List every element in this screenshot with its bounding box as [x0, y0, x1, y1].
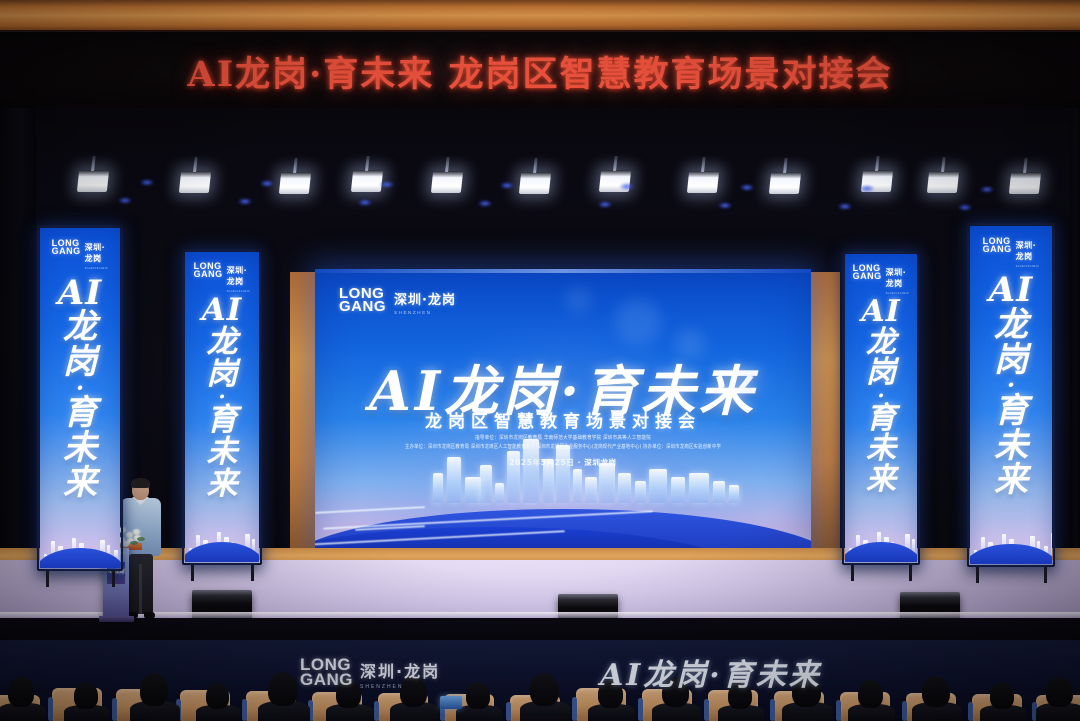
stage-light — [351, 170, 383, 192]
banner-logo-chinese: 深圳·龙岗 — [85, 242, 109, 264]
ceiling-accent-light — [718, 202, 732, 209]
light-mount-arm — [1023, 158, 1028, 173]
light-mount-arm — [365, 156, 370, 171]
banner-skyline — [970, 496, 1052, 564]
audience-head — [466, 682, 490, 709]
banner-vertical-title: AI龙岗·育未来 — [185, 295, 259, 500]
skyline-tower — [713, 481, 725, 503]
banner-title-char: 未 — [63, 431, 97, 466]
side-curtain-right — [1070, 108, 1080, 578]
stage-light — [769, 172, 801, 194]
stage-light — [519, 172, 551, 194]
screen-brand-logo: LONG GANG 深圳·龙岗 SHENZHEN — [339, 287, 456, 315]
banner-title-char: 来 — [207, 469, 238, 501]
audience-area — [0, 640, 1080, 721]
audience-head — [922, 676, 950, 707]
ceiling-accent-light — [500, 182, 514, 189]
podium-base — [99, 616, 134, 622]
banner-logo-chinese-wrap: 深圳·龙岗SHENZHEN — [227, 263, 251, 293]
banner-logo-gang: GANG — [983, 246, 1012, 254]
banner-title-char: 龙 — [207, 327, 238, 359]
light-mount-arm — [293, 158, 298, 173]
skyline-tower — [447, 457, 461, 503]
stage-light — [927, 171, 959, 193]
ceiling-accent-light — [380, 181, 394, 188]
logo-chinese-wrap: 深圳·龙岗 SHENZHEN — [394, 287, 456, 315]
foliage-leaf — [130, 541, 138, 545]
apron-logo-gang: GANG — [300, 673, 353, 688]
screen-skyline-graphic — [315, 433, 811, 503]
banner-logo-gang: GANG — [52, 248, 81, 256]
light-mount-arm — [445, 157, 450, 172]
stage-light — [1009, 172, 1041, 194]
banner-skyline-tower — [1051, 533, 1052, 556]
light-mount-arm — [613, 156, 618, 171]
banner-title-char: 龙 — [63, 310, 97, 345]
banner-title-char: 未 — [207, 437, 238, 469]
ceiling-accent-light — [958, 204, 972, 211]
speaker-shoe-right — [144, 612, 155, 618]
ceiling-accent-light — [260, 180, 274, 187]
ceiling-accent-light — [860, 185, 874, 192]
banner-title-char: 来 — [994, 463, 1028, 498]
banner-stand-leg — [112, 571, 115, 587]
skyline-tower — [599, 463, 615, 503]
banner-stand-leg — [1044, 567, 1047, 583]
skyline-tower — [543, 459, 554, 503]
banner-title-char: AI — [58, 276, 102, 311]
screen-bokeh-blob — [735, 364, 769, 398]
skyline-tower — [729, 485, 739, 503]
ceiling-accent-light — [620, 183, 634, 190]
logo-latin-stack: LONG GANG — [339, 287, 386, 313]
skyline-tower — [573, 469, 582, 503]
banner-logo-gang: GANG — [853, 273, 882, 281]
banner-brand-logo: LONGGANG深圳·龙岗SHENZHEN — [983, 238, 1040, 268]
banner-title-char: 育 — [63, 396, 97, 431]
banner-logo-latin: LONGGANG — [52, 240, 81, 256]
stage-light — [687, 171, 719, 193]
banner-title-char: 未 — [866, 434, 896, 465]
wall-panel-right — [806, 272, 840, 562]
apron-brand-logo: LONG GANG 深圳·龙岗 SHENZHEN — [300, 656, 440, 690]
banner-logo-chinese-wrap: 深圳·龙岗SHENZHEN — [886, 265, 910, 295]
audience-head — [1046, 677, 1073, 707]
wave-highlight-stripe — [315, 506, 425, 514]
skyline-tower — [507, 451, 520, 503]
banner-skyline — [845, 500, 917, 562]
screen-bokeh-blob — [675, 329, 705, 359]
skyline-tower — [556, 445, 570, 503]
banner-logo-chinese: 深圳·龙岗 — [227, 265, 251, 287]
audience-head — [990, 682, 1014, 709]
foliage-leaf — [137, 537, 145, 541]
banner-skyline — [40, 500, 120, 568]
banner-brand-logo: LONGGANG深圳·龙岗SHENZHEN — [853, 265, 910, 295]
audience-head — [206, 683, 229, 709]
audience-head — [140, 673, 168, 706]
banner-title-char: 来 — [63, 466, 97, 501]
banner-title-char: 来 — [866, 465, 896, 496]
screen-bokeh-blob — [565, 287, 591, 313]
banner-vertical-title: AI龙岗·育未来 — [845, 297, 917, 495]
podium-sign-line1: AI龙岗 — [108, 570, 124, 576]
skyline-tower — [465, 477, 481, 503]
skyline-tower — [635, 481, 646, 503]
speaker-legs — [129, 554, 153, 614]
skyline-tower — [495, 483, 504, 503]
apron-logo-pinyin: SHENZHEN — [360, 684, 440, 690]
audience-head — [858, 680, 883, 708]
light-mount-arm — [783, 158, 788, 173]
banner-title-char: AI — [989, 273, 1033, 308]
audience-head — [8, 677, 34, 707]
skyline-tower — [649, 469, 667, 503]
banner-skyline — [185, 500, 259, 562]
screen-subtitle: 龙岗区智慧教育场景对接会 — [315, 407, 811, 432]
banner-logo-chinese-wrap: 深圳·龙岗SHENZHEN — [1016, 238, 1040, 268]
banner-brand-logo: LONGGANG深圳·龙岗SHENZHEN — [52, 240, 109, 270]
audience-head — [268, 672, 298, 706]
skyline-tower — [480, 465, 492, 503]
conference-stage-photo: AI龙岗·育未来 龙岗区智慧教育场景对接会 LONG GANG 深圳·龙岗 SH… — [0, 0, 1080, 721]
ceiling-accent-light — [238, 198, 252, 205]
flower — [122, 541, 129, 547]
ceiling-accent-light — [838, 203, 852, 210]
ceiling-warm-strip — [0, 0, 1080, 32]
ceiling-accent-light — [980, 186, 994, 193]
vertical-banner-3: LONGGANG深圳·龙岗SHENZHENAI龙岗·育未来 — [845, 254, 917, 562]
ceiling-accent-light — [358, 199, 372, 206]
light-mount-arm — [941, 157, 946, 172]
audience-phone-screen — [440, 696, 462, 709]
ceiling-accent-light — [740, 184, 754, 191]
vertical-banner-2: LONGGANG深圳·龙岗SHENZHENAI龙岗·育未来 — [185, 252, 259, 562]
stage-light — [179, 171, 211, 193]
logo-line-gang: GANG — [339, 300, 386, 313]
banner-title-char: 龙 — [994, 308, 1028, 343]
banner-title-char: AI — [861, 297, 900, 328]
speaker-hair — [131, 478, 150, 488]
apron-logo-chinese-wrap: 深圳·龙岗 SHENZHEN — [360, 656, 440, 690]
skyline-tower — [523, 439, 539, 503]
skyline-tower — [585, 477, 597, 503]
stage-light — [77, 170, 109, 192]
skyline-tower — [618, 473, 631, 503]
banner-stand-leg — [46, 571, 49, 587]
ceiling-accent-light — [118, 197, 132, 204]
screen-top-glow — [315, 269, 811, 273]
skyline-tower — [689, 473, 709, 503]
ceiling-accent-light — [140, 179, 154, 186]
banner-logo-chinese: 深圳·龙岗 — [1016, 240, 1040, 262]
light-mount-arm — [875, 156, 880, 171]
apron-script-text: AI龙岗·育未来 — [600, 650, 822, 694]
light-mount-arm — [91, 156, 96, 171]
vertical-banner-1: LONGGANG深圳·龙岗SHENZHENAI龙岗·育未来 — [40, 228, 120, 568]
logo-pinyin: SHENZHEN — [394, 310, 456, 315]
banner-title-char: 龙 — [866, 328, 896, 359]
audience-head — [530, 673, 559, 706]
banner-logo-latin: LONGGANG — [983, 238, 1012, 254]
skyline-tower — [433, 473, 443, 503]
screen-bokeh-blob — [615, 299, 661, 345]
banner-title-char: 育 — [207, 405, 238, 437]
light-mount-arm — [193, 157, 198, 172]
logo-chinese: 深圳·龙岗 — [394, 289, 456, 308]
light-mount-arm — [701, 157, 706, 172]
banner-stand-leg — [909, 565, 912, 581]
banner-logo-latin: LONGGANG — [853, 265, 882, 281]
banner-logo-latin: LONGGANG — [194, 263, 223, 279]
banner-title-char: AI — [202, 295, 243, 327]
banner-brand-logo: LONGGANG深圳·龙岗SHENZHEN — [194, 263, 251, 293]
banner-stand-leg — [976, 567, 979, 583]
apron-logo-chinese: 深圳·龙岗 — [360, 658, 440, 682]
top-led-banner: AI龙岗·育未来 龙岗区智慧教育场景对接会 — [0, 30, 1080, 110]
banner-logo-pinyin: SHENZHEN — [85, 266, 109, 270]
led-banner-title: AI龙岗·育未来 龙岗区智慧教育场景对接会 — [188, 46, 893, 97]
side-curtain-left — [0, 108, 36, 578]
banner-vertical-title: AI龙岗·育未来 — [40, 276, 120, 501]
banner-logo-gang: GANG — [194, 271, 223, 279]
stage-light — [431, 171, 463, 193]
ceiling-accent-light — [478, 200, 492, 207]
audience-head — [74, 682, 98, 709]
banner-stand-leg — [851, 565, 854, 581]
banner-stand-leg — [191, 565, 194, 581]
banner-title-char: 育 — [994, 394, 1028, 429]
banner-title-char: 育 — [866, 404, 896, 435]
banner-logo-chinese: 深圳·龙岗 — [886, 267, 910, 289]
vertical-banner-4: LONGGANG深圳·龙岗SHENZHENAI龙岗·育未来 — [970, 226, 1052, 564]
banner-vertical-title: AI龙岗·育未来 — [970, 273, 1052, 498]
ceiling-accent-light — [598, 201, 612, 208]
banner-stand-leg — [251, 565, 254, 581]
apron-logo-latin: LONG GANG — [300, 658, 353, 688]
banner-logo-pinyin: SHENZHEN — [1016, 264, 1040, 268]
skyline-tower — [671, 477, 685, 503]
banner-logo-chinese-wrap: 深圳·龙岗SHENZHEN — [85, 240, 109, 270]
stage-light — [279, 172, 311, 194]
main-led-screen: LONG GANG 深圳·龙岗 SHENZHEN AI龙岗·育未来 龙岗区智慧教… — [315, 269, 811, 557]
banner-title-char: 未 — [994, 429, 1028, 464]
light-mount-arm — [533, 158, 538, 173]
